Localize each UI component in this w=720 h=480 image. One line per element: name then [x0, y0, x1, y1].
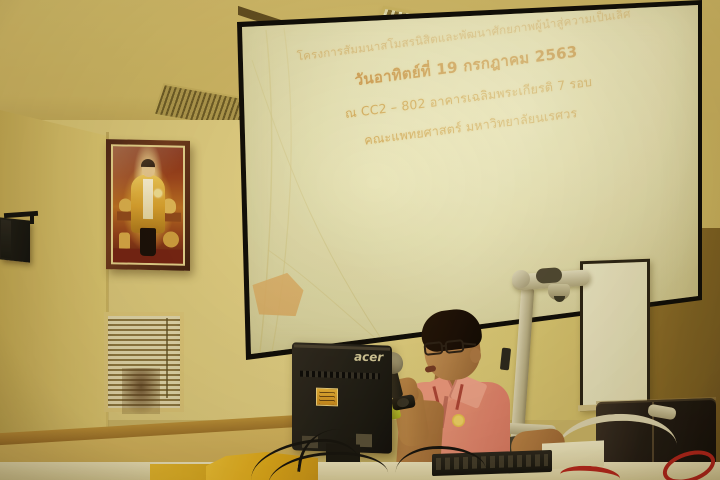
shirt-emblem-icon: [452, 414, 465, 427]
blind-cord[interactable]: [166, 318, 168, 398]
sticker-barcode-icon: [319, 392, 335, 405]
visualizer-elbow: [536, 267, 563, 284]
seminar-room-photo: 2: [0, 0, 720, 480]
asset-sticker: [316, 388, 338, 407]
portrait-glass-glare: [113, 146, 183, 263]
framed-portrait: [106, 139, 190, 271]
left-wall: [0, 110, 108, 440]
interior-window: [104, 312, 184, 412]
glasses-lens-right-icon: [444, 339, 464, 354]
speaker-face: [1, 220, 11, 259]
whiteboard: [580, 259, 650, 411]
acer-logo: acer: [354, 350, 390, 365]
wall-speaker-icon: [0, 217, 30, 262]
presenter-ear: [470, 348, 481, 363]
watch-face: [396, 397, 409, 408]
portrait-image: [111, 144, 185, 266]
speaker-bracket-arm: [30, 212, 34, 224]
visualizer-hinge[interactable]: [512, 270, 530, 288]
window-silhouette: [122, 368, 160, 414]
glasses-lens-left-icon: [423, 341, 443, 356]
